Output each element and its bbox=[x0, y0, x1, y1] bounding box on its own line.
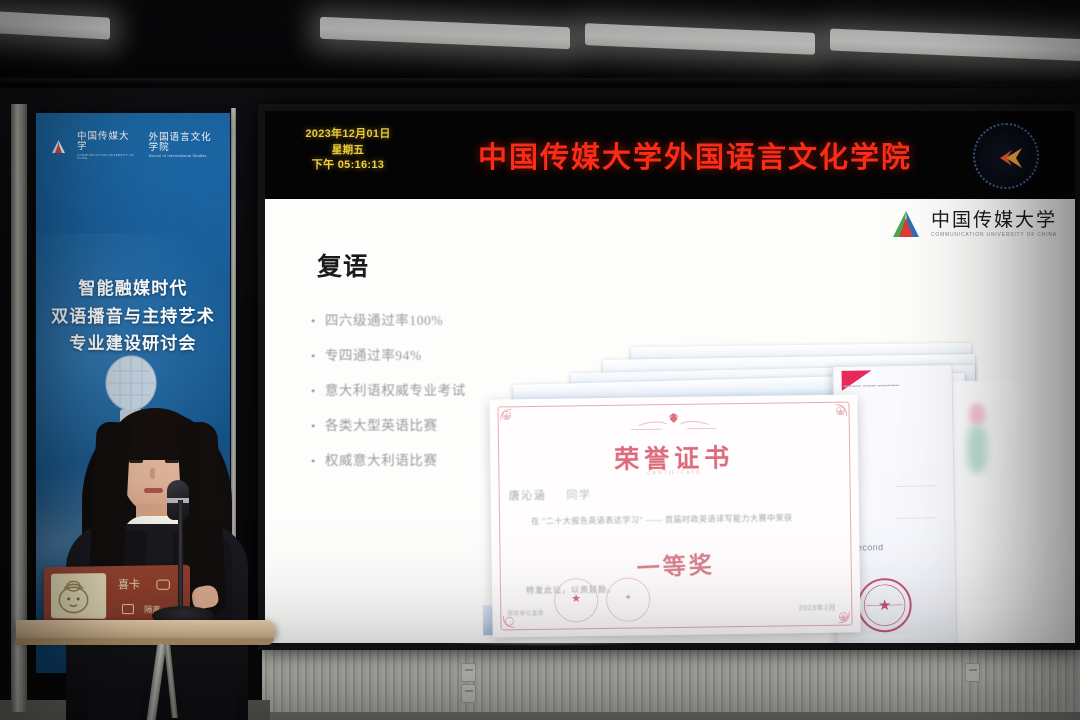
banner-university-cn: 中国传媒大学 bbox=[77, 133, 136, 152]
bullet-dot-icon: • bbox=[311, 349, 316, 364]
wall-outlet-1 bbox=[461, 663, 476, 682]
wall-outlet-2 bbox=[461, 684, 476, 703]
display-date: 2023年12月01日 bbox=[293, 127, 403, 143]
bullet-text: 专四通过率94% bbox=[325, 344, 422, 364]
banner-school-en: School of International Studies bbox=[149, 155, 220, 159]
slide-content: 中国传媒大学 COMMUNICATION UNIVERSITY OF CHINA… bbox=[265, 199, 1075, 643]
mouth bbox=[144, 488, 163, 493]
banner-school-cn: 外国语言文化学院 bbox=[149, 134, 220, 153]
bullet-dot-icon: • bbox=[311, 384, 316, 399]
cuc-logo-text: 中国传媒大学 COMMUNICATION UNIVERSITY OF CHINA bbox=[931, 211, 1057, 238]
wall-outlet-3 bbox=[965, 663, 980, 682]
recipient-honorific: 同学 bbox=[566, 489, 591, 501]
side-certificate-microtext: ▬▬▬▬ ▬▬▬ ▬▬▬▬▬ bbox=[844, 381, 934, 388]
banner-school: 外国语言文化学院 School of International Studies bbox=[149, 134, 220, 159]
banner-university: 中国传媒大学 COMMUNICATION UNIVERSITY OF CHINA bbox=[77, 133, 136, 160]
certificate-issue-date: 2023年2月 bbox=[799, 603, 837, 614]
podium-desk bbox=[16, 620, 276, 640]
date-time-display: 2023年12月01日 星期五 下午 05:16:13 bbox=[293, 127, 403, 174]
wainscot-panel bbox=[262, 645, 1080, 720]
floor-line bbox=[262, 712, 1080, 720]
cuc-name-cn: 中国传媒大学 bbox=[931, 211, 1057, 230]
conference-room-scene: 2023年12月01日 星期五 下午 05:16:13 中国传媒大学外国语言文化… bbox=[0, 0, 1080, 720]
slide-top-bar: 2023年12月01日 星期五 下午 05:16:13 中国传媒大学外国语言文化… bbox=[265, 111, 1075, 199]
side-certificate-rule bbox=[896, 485, 936, 487]
nose bbox=[150, 468, 155, 479]
recipient-name: 唐沁涵 bbox=[509, 490, 547, 503]
cuc-name-en: COMMUNICATION UNIVERSITY OF CHINA bbox=[931, 233, 1057, 238]
certificate-crest-icon bbox=[609, 410, 739, 438]
banner-title-line-2: 双语播音与主持艺术 bbox=[36, 303, 230, 331]
bullet-text: 各类大型英语比赛 bbox=[325, 414, 438, 434]
bullet-text: 意大利语权威专业考试 bbox=[325, 379, 466, 399]
certificate-corner-ornament-icon bbox=[825, 404, 847, 426]
slide-heading: 复语 bbox=[317, 247, 369, 283]
ceiling bbox=[0, 0, 1080, 96]
laptop-sticker-square bbox=[122, 604, 134, 614]
seal-mark-icon: ✦ bbox=[624, 592, 632, 603]
bullet-dot-icon: • bbox=[311, 314, 316, 329]
cartoon-doodle-icon bbox=[53, 574, 95, 616]
certificate-corner-ornament-icon bbox=[499, 408, 521, 430]
cuc-triangle-icon bbox=[50, 139, 67, 154]
laptop-sticker-cloud bbox=[156, 580, 170, 590]
banner-logos: 中国传媒大学 COMMUNICATION UNIVERSITY OF CHINA… bbox=[50, 133, 220, 160]
ceiling-light-1 bbox=[0, 10, 110, 39]
bullet-dot-icon: • bbox=[311, 419, 316, 434]
chevron-arrow-icon bbox=[992, 145, 1024, 171]
display-time: 下午 05:16:13 bbox=[293, 158, 403, 174]
cuc-triangle-icon bbox=[889, 209, 923, 239]
banner-title: 智能融媒时代 双语播音与主持艺术 专业建设研讨会 bbox=[36, 275, 230, 358]
page-title: 中国传媒大学外国语言文化学院 bbox=[405, 127, 985, 183]
red-official-seal: ★ bbox=[857, 578, 912, 633]
circular-arrow-logo bbox=[973, 123, 1039, 189]
podium-desk-edge bbox=[16, 638, 274, 645]
certificate-stack: ▬▬▬▬ ▬▬▬ ▬▬▬▬▬ Second ★ bbox=[483, 345, 1043, 643]
bullet-text: 四六级通过率100% bbox=[325, 309, 444, 329]
ceiling-light-2 bbox=[320, 17, 570, 49]
certificate-title-en: CERTIFICATE bbox=[647, 470, 701, 477]
ceiling-light-4 bbox=[830, 29, 1080, 62]
cuc-logo: 中国传媒大学 COMMUNICATION UNIVERSITY OF CHINA bbox=[889, 205, 1057, 243]
bullet-text: 权威意大利语比赛 bbox=[325, 449, 438, 469]
side-certificate-rule bbox=[896, 517, 936, 519]
display-weekday: 星期五 bbox=[293, 143, 403, 158]
certificate-recipient: 唐沁涵 同学 bbox=[509, 486, 592, 503]
list-item: • 四六级通过率100% bbox=[311, 309, 541, 329]
banner-title-line-1: 智能融媒时代 bbox=[36, 275, 230, 303]
microphone-stem bbox=[178, 500, 183, 610]
ceiling-rail bbox=[0, 78, 1080, 83]
projection-screen-frame: 2023年12月01日 星期五 下午 05:16:13 中国传媒大学外国语言文化… bbox=[258, 104, 1080, 650]
certificate-org-label: 颁奖单位盖章 bbox=[507, 609, 544, 618]
laptop-sticker-text: 喜卡 bbox=[118, 576, 140, 592]
seal-star-icon: ★ bbox=[571, 592, 581, 605]
seal-star-icon: ★ bbox=[878, 596, 892, 614]
ceiling-light-3 bbox=[585, 23, 815, 55]
main-certificate: 荣誉证书 CERTIFICATE 唐沁涵 同学 在 "二十大报告英语表达学习" … bbox=[489, 394, 860, 637]
decor-blob-green bbox=[967, 425, 987, 473]
projection-screen: 2023年12月01日 星期五 下午 05:16:13 中国传媒大学外国语言文化… bbox=[265, 111, 1075, 643]
certificate-prize: 一等奖 bbox=[636, 545, 716, 583]
banner-university-en: COMMUNICATION UNIVERSITY OF CHINA bbox=[77, 154, 136, 160]
certificate-faint-right bbox=[949, 381, 1019, 601]
bullet-dot-icon: • bbox=[311, 454, 316, 469]
decor-blob-pink bbox=[969, 403, 985, 425]
